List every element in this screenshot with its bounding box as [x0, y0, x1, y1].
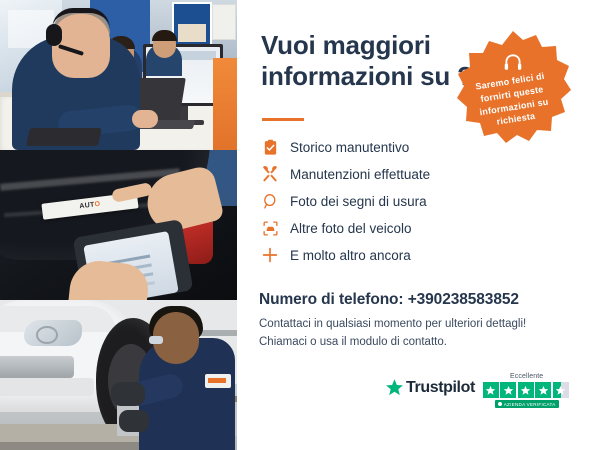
verified-check-icon	[498, 402, 502, 406]
front-grille	[0, 356, 74, 378]
call-center-agents-photo	[0, 0, 237, 150]
star-filled	[483, 382, 499, 398]
front-bumper	[0, 378, 94, 396]
trustpilot-star-icon	[385, 378, 404, 397]
mechanic-glove-upper	[111, 382, 145, 406]
contact-description-line-2: Chiamaci o usa il modulo di contatto.	[259, 334, 526, 352]
wall-poster	[172, 2, 212, 48]
trustpilot-logo: Trustpilot	[385, 373, 475, 397]
feature-item-label: Storico manutentivo	[290, 140, 409, 155]
feature-item-storico: Storico manutentivo	[259, 134, 559, 160]
lift-platform-shadow	[0, 442, 142, 450]
orange-panel	[213, 58, 237, 150]
title-underline-rule	[262, 118, 304, 121]
callout-badge: Saremo felici di fornirti queste informa…	[455, 29, 571, 145]
feature-list: Storico manutentivo Manutenzioni effettu…	[259, 134, 559, 269]
mechanic-glove-lower	[119, 410, 149, 432]
clipboard-check-icon	[259, 136, 281, 158]
headset-band	[52, 8, 110, 29]
feature-item-altre-foto: Altre foto del veicolo	[259, 215, 559, 241]
star-filled	[535, 382, 551, 398]
feature-item-label: Foto dei segni di usura	[290, 194, 427, 209]
feature-item-altro-ancora: E molto altro ancora	[259, 242, 559, 268]
agent-hand	[132, 110, 158, 128]
mechanic-wheel-photo	[0, 300, 237, 450]
headset-icon	[502, 53, 524, 75]
headset-earcup	[46, 24, 62, 46]
star-half	[553, 382, 569, 398]
contact-description: Contattaci in qualsiasi momento per ulte…	[259, 316, 526, 352]
wall-notice	[212, 4, 236, 40]
feature-item-label: Altre foto del veicolo	[290, 221, 412, 236]
magnifier-icon	[259, 190, 281, 212]
advertisement-banner: AUTO	[0, 0, 600, 450]
verified-company-label: AZIENDA VERIFICATA	[504, 402, 556, 407]
car-scan-icon	[259, 217, 281, 239]
vehicle-sticker-tablet-photo: AUTO	[0, 150, 237, 300]
trustpilot-widget[interactable]: Trustpilot Eccellente	[385, 373, 570, 408]
phone-number-line: Numero di telefono: +390238583852	[259, 291, 519, 309]
trustpilot-stars	[483, 382, 571, 398]
tools-cross-icon	[259, 163, 281, 185]
verified-company-badge: AZIENDA VERIFICATA	[495, 400, 559, 408]
feature-item-label: E molto altro ancora	[290, 248, 411, 263]
headlight	[24, 320, 82, 346]
photo-strip: AUTO	[0, 0, 237, 450]
desk-tablet	[26, 128, 102, 146]
contact-description-line-1: Contattaci in qualsiasi momento per ulte…	[259, 316, 526, 334]
trustpilot-brand-name: Trustpilot	[406, 379, 475, 397]
star-filled	[500, 382, 516, 398]
feature-item-manutenzioni: Manutenzioni effettuate	[259, 161, 559, 187]
safety-glasses	[149, 336, 163, 344]
feature-item-foto-usura: Foto dei segni di usura	[259, 188, 559, 214]
plus-icon	[259, 244, 281, 266]
feature-item-label: Manutenzioni effettuate	[290, 167, 430, 182]
uniform-logo	[205, 374, 231, 388]
promo-content-panel: Vuoi maggiori informazioni su ? Saremo f…	[237, 0, 600, 450]
trustpilot-rating: Eccellente	[483, 373, 571, 408]
star-filled	[518, 382, 534, 398]
trustpilot-rating-label: Eccellente	[510, 373, 543, 380]
